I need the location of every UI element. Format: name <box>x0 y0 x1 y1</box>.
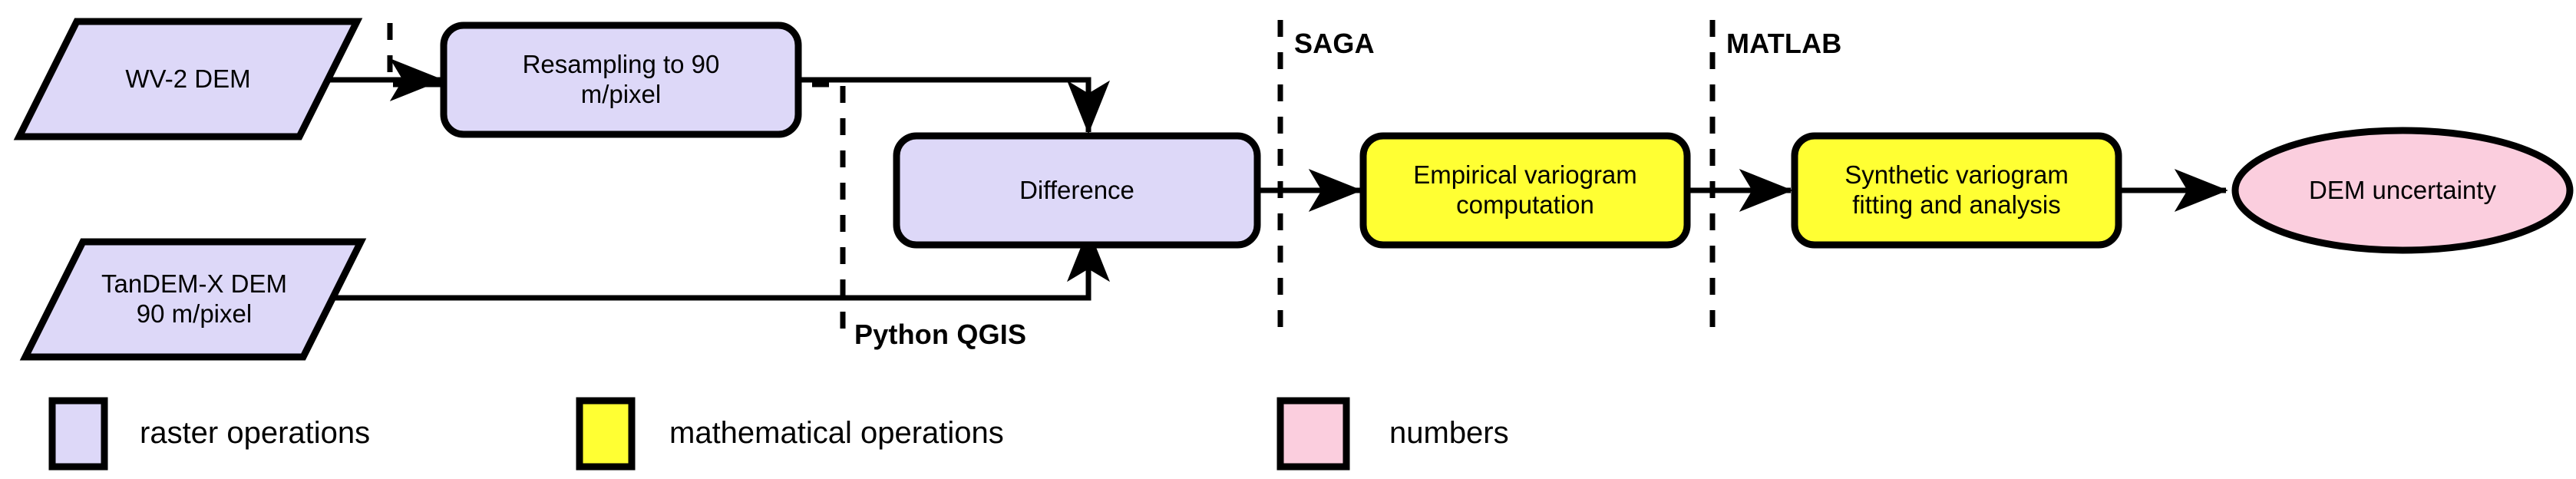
legend-label-raster-operations: raster operations <box>140 416 370 451</box>
legend-swatch-numbers <box>1280 401 1346 467</box>
legend-label-numbers: numbers <box>1389 416 1509 451</box>
legend-swatch-raster-operations <box>52 401 104 467</box>
node-tandem-x-dem[interactable] <box>25 242 361 357</box>
legend-label-mathematical-operations: mathematical operations <box>669 416 1004 451</box>
node-wv2-dem[interactable] <box>19 21 357 137</box>
flowchart-canvas: WV-2 DEM Resampling to 90 m/pixel Differ… <box>0 0 2576 479</box>
node-dem-uncertainty[interactable] <box>2235 130 2570 250</box>
zone-label-saga: SAGA <box>1294 28 1375 60</box>
legend-swatch-mathematical-operations <box>580 401 632 467</box>
zone-label-python-qgis: Python QGIS <box>854 319 1026 351</box>
node-synthetic-variogram[interactable] <box>1795 136 2119 245</box>
node-empirical-variogram[interactable] <box>1363 136 1687 245</box>
flowchart-graphics <box>0 0 2576 479</box>
zone-label-matlab: MATLAB <box>1726 28 1842 60</box>
node-difference[interactable] <box>897 136 1257 245</box>
node-resampling[interactable] <box>444 25 798 134</box>
